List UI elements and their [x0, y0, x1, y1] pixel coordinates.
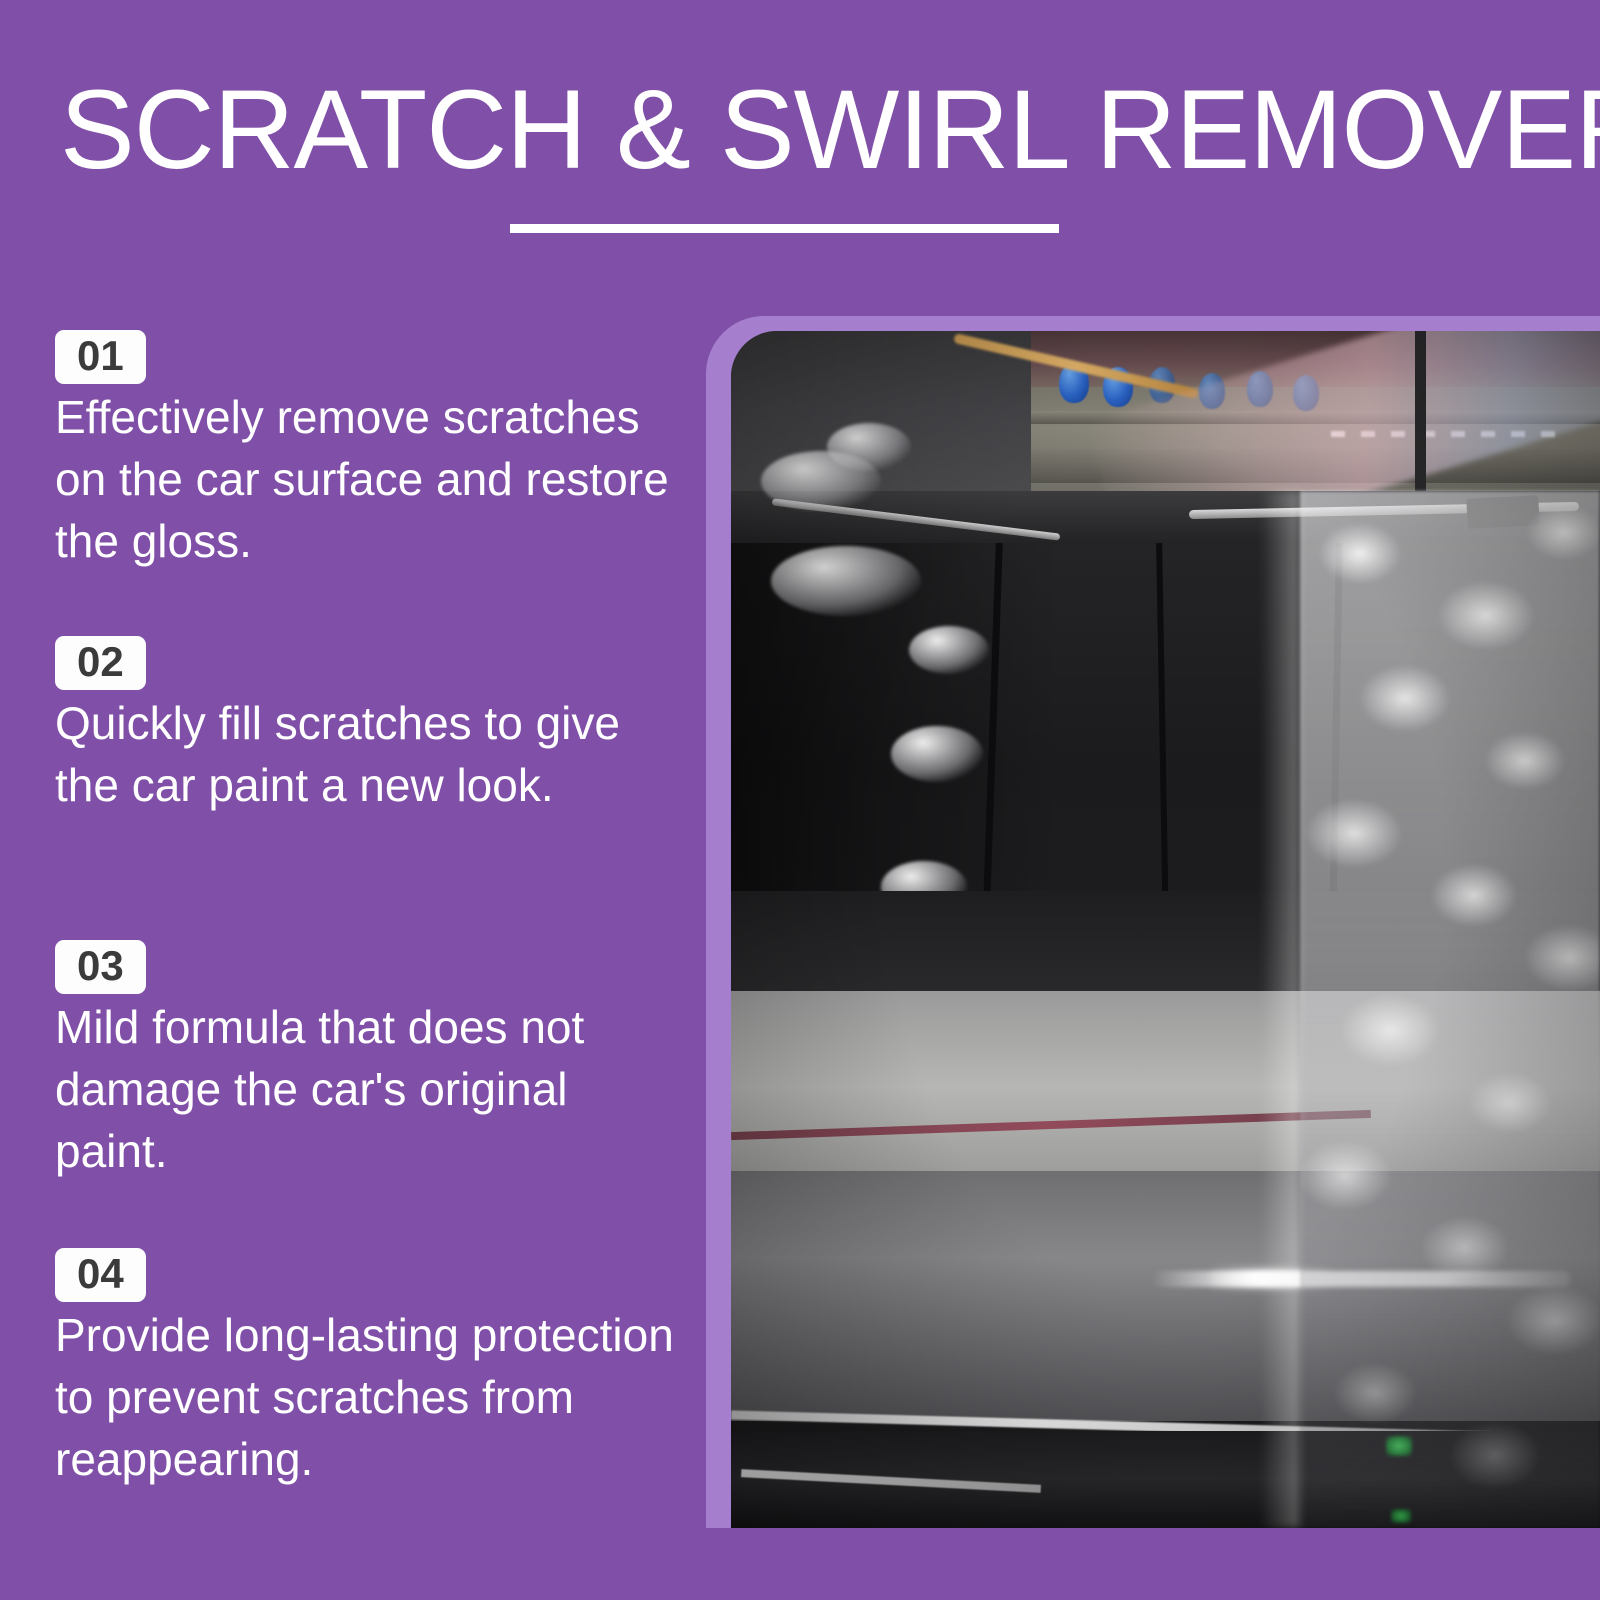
feature-item-03: 03 Mild formula that does not damage the… [55, 940, 695, 1182]
poster-root: SCRATCH & SWIRL REMOVER [0, 0, 1600, 1600]
feature-description: Mild formula that does not damage the ca… [55, 996, 687, 1182]
photo-content [731, 331, 1600, 1528]
feature-number-badge: 01 [55, 330, 146, 384]
foam-blob [771, 546, 921, 616]
feature-description: Quickly fill scratches to give the car p… [55, 692, 687, 816]
feature-item-04: 04 Provide long-lasting protection to pr… [55, 1248, 695, 1490]
feature-number-badge: 03 [55, 940, 146, 994]
windshield-pillar [1415, 331, 1426, 506]
foam-blob [761, 451, 881, 511]
feature-item-01: 01 Effectively remove scratches on the c… [55, 330, 695, 572]
features-list: 01 Effectively remove scratches on the c… [0, 0, 700, 1600]
product-demo-photo [731, 331, 1600, 1528]
feature-description: Provide long-lasting protection to preve… [55, 1304, 687, 1490]
feature-number-badge: 02 [55, 636, 146, 690]
feature-description: Effectively remove scratches on the car … [55, 386, 687, 572]
foam-blob [891, 726, 983, 782]
foam-edge-glow [1260, 491, 1300, 1528]
feature-item-02: 02 Quickly fill scratches to give the ca… [55, 636, 695, 816]
foam-blob [909, 626, 989, 674]
foam-column [1300, 491, 1600, 1528]
feature-number-badge: 04 [55, 1248, 146, 1302]
